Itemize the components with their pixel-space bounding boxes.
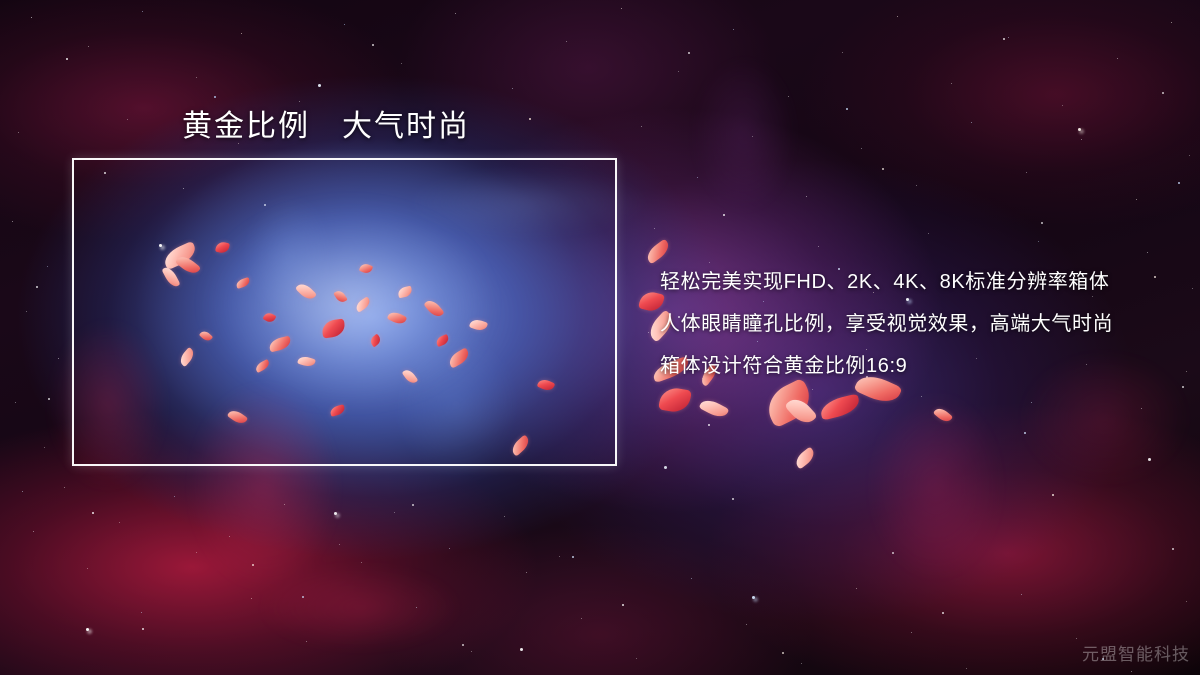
petal <box>818 393 861 420</box>
body-line-3: 箱体设计符合黄金比例16:9 <box>660 345 1180 387</box>
petal <box>699 396 730 421</box>
starfield-glow <box>0 0 5 5</box>
petal <box>933 405 953 424</box>
slide-headline: 黄金比例 大气时尚 <box>182 101 470 145</box>
slide-body-copy: 轻松完美实现FHD、2K、4K、8K标准分辨率箱体 人体眼睛瞳孔比例，享受视觉效… <box>660 261 1180 387</box>
petal <box>793 446 818 469</box>
presentation-slide: 黄金比例 大气时尚 轻松完美实现FHD、2K、4K、8K标准分辨率箱体 人体眼睛… <box>0 0 1200 675</box>
body-line-2: 人体眼睛瞳孔比例，享受视觉效果，高端大气时尚 <box>660 303 1180 345</box>
frame-inner-scene <box>72 158 617 466</box>
brand-watermark: 元盟智能科技 <box>1082 640 1190 665</box>
display-preview-frame[interactable] <box>72 158 617 466</box>
body-line-1: 轻松完美实现FHD、2K、4K、8K标准分辨率箱体 <box>660 261 1180 303</box>
petal <box>658 386 692 415</box>
